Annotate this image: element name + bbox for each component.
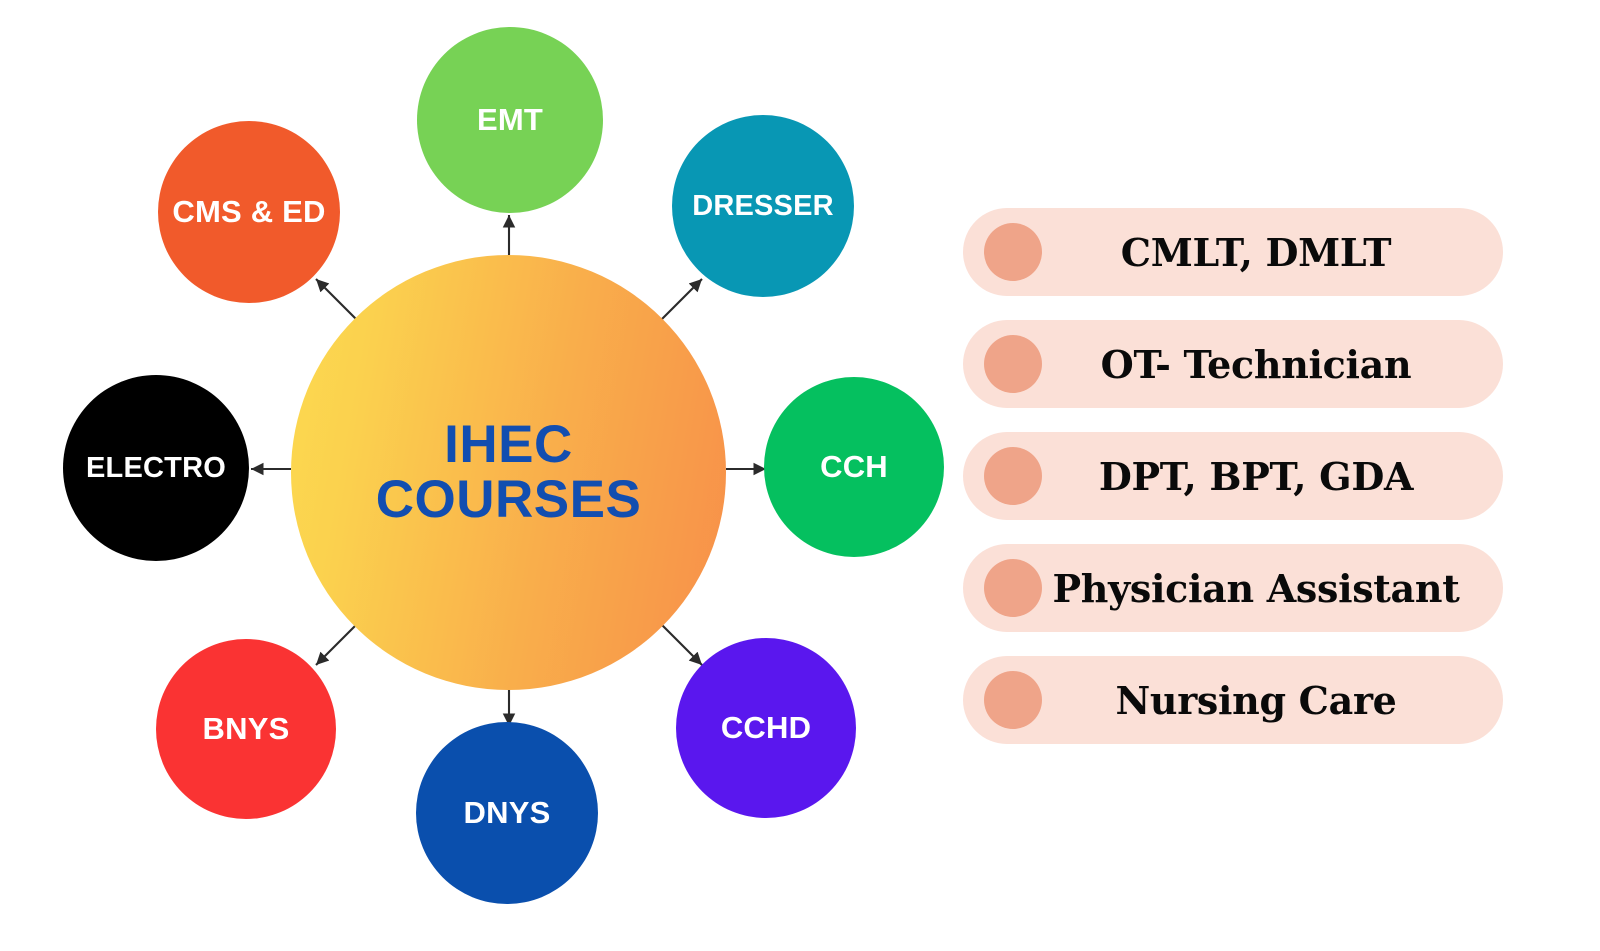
node-electro[interactable]: ELECTRO <box>63 375 249 561</box>
node-dnys-label: DNYS <box>464 797 551 830</box>
hub-label-line1: IHEC <box>376 418 642 472</box>
node-dnys[interactable]: DNYS <box>416 722 598 904</box>
legend-list: CMLT, DMLT OT- Technician DPT, BPT, GDA … <box>963 208 1503 744</box>
node-electro-label: ELECTRO <box>86 453 226 483</box>
legend-item-nursing-care[interactable]: Nursing Care <box>963 656 1503 744</box>
legend-item-label: DPT, BPT, GDA <box>963 454 1503 499</box>
bullet-dot-icon <box>984 447 1042 505</box>
node-dresser-label: DRESSER <box>692 191 834 221</box>
legend-item-label: Nursing Care <box>963 678 1503 723</box>
bullet-dot-icon <box>984 671 1042 729</box>
legend-item-ot-technician[interactable]: OT- Technician <box>963 320 1503 408</box>
node-cchd-label: CCHD <box>721 712 811 745</box>
node-cchd[interactable]: CCHD <box>676 638 856 818</box>
legend-item-label: CMLT, DMLT <box>963 230 1503 275</box>
bullet-dot-icon <box>984 559 1042 617</box>
node-cms-ed-label: CMS & ED <box>172 196 325 229</box>
legend-item-label: Physician Assistant <box>963 566 1503 611</box>
hub-label: IHEC COURSES <box>376 418 642 526</box>
node-cch[interactable]: CCH <box>764 377 944 557</box>
connector-to-dresser <box>659 279 702 322</box>
node-emt-label: EMT <box>477 104 543 137</box>
node-cch-label: CCH <box>820 451 888 484</box>
node-bnys[interactable]: BNYS <box>156 639 336 819</box>
legend-item-physician-assistant[interactable]: Physician Assistant <box>963 544 1503 632</box>
bullet-dot-icon <box>984 223 1042 281</box>
legend-item-cmlt-dmlt[interactable]: CMLT, DMLT <box>963 208 1503 296</box>
connector-to-cchd <box>659 622 702 665</box>
legend-item-label: OT- Technician <box>963 342 1503 387</box>
bullet-dot-icon <box>984 335 1042 393</box>
connector-to-bnys <box>316 622 359 665</box>
node-dresser[interactable]: DRESSER <box>672 115 854 297</box>
connector-to-cms-ed <box>316 279 359 322</box>
node-emt[interactable]: EMT <box>417 27 603 213</box>
node-cms-ed[interactable]: CMS & ED <box>158 121 340 303</box>
node-bnys-label: BNYS <box>203 713 290 746</box>
hub-label-line2: COURSES <box>376 473 642 527</box>
hub-circle[interactable]: IHEC COURSES <box>291 255 726 690</box>
diagram-canvas: IHEC COURSES EMT CMS & ED DRESSER ELECTR… <box>0 0 1600 951</box>
legend-item-dpt-bpt-gda[interactable]: DPT, BPT, GDA <box>963 432 1503 520</box>
